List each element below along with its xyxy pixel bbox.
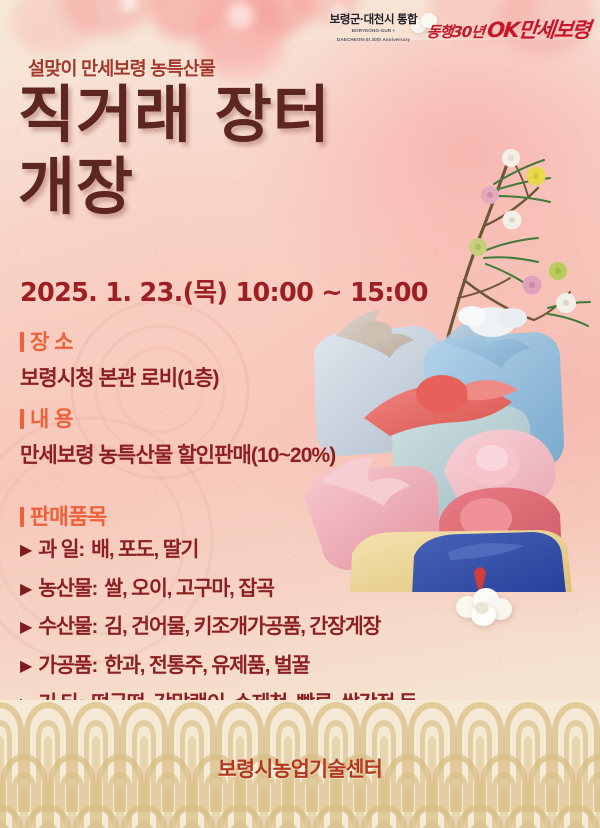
section-location-heading: 장 소: [20, 326, 219, 356]
item-values: 김, 건어물, 키조개가공품, 간장게장: [104, 609, 380, 639]
title-line-1: 직거래 장터: [18, 78, 331, 151]
section-items-heading-text: 판매품목: [30, 500, 107, 531]
poster-root: 보령군·대천시 통합 BORYEONG-GUN + DAECHEON-SI 30…: [0, 0, 600, 828]
city-merger-logo: 보령군·대천시 통합 BORYEONG-GUN + DAECHEON-SI 30…: [330, 14, 418, 44]
heading-bar-icon: [20, 332, 24, 352]
title-line-2: 개장: [18, 157, 331, 217]
section-location-body: 보령시청 본관 로비(1층): [20, 362, 219, 392]
list-item: ▶ 과 일: 배, 포도, 딸기: [20, 532, 417, 562]
list-item: ▶ 가공품: 한과, 전통주, 유제품, 벌꿀: [20, 648, 417, 678]
page-title: 직거래 장터 개장: [18, 85, 331, 216]
heading-bar-icon: [20, 507, 24, 527]
heading-bar-icon: [20, 409, 24, 429]
list-item: ▶ 농산물: 쌀, 오이, 고구마, 잡곡: [20, 571, 417, 601]
triangle-marker-icon: ▶: [20, 579, 31, 599]
sale-items-list: ▶ 과 일: 배, 포도, 딸기 ▶ 농산물: 쌀, 오이, 고구마, 잡곡 ▶…: [20, 532, 417, 725]
header-logos: 보령군·대천시 통합 BORYEONG-GUN + DAECHEON-SI 30…: [330, 14, 590, 44]
section-content: 내 용 만세보령 농특산물 할인판매(10~20%): [20, 403, 335, 469]
section-content-heading: 내 용: [20, 403, 335, 433]
brand-logo-anniversary: 동행30년: [426, 21, 485, 42]
section-location-heading-text: 장 소: [30, 326, 73, 356]
item-values: 쌀, 오이, 고구마, 잡곡: [104, 571, 274, 601]
item-category: 가공품:: [38, 648, 97, 678]
section-location: 장 소 보령시청 본관 로비(1층): [20, 326, 219, 392]
item-values: 배, 포도, 딸기: [91, 532, 198, 562]
triangle-marker-icon: ▶: [20, 656, 31, 676]
triangle-marker-icon: ▶: [20, 617, 31, 637]
section-content-heading-text: 내 용: [30, 403, 73, 433]
list-item: ▶ 수산물: 김, 건어물, 키조개가공품, 간장게장: [20, 609, 417, 639]
section-content-body: 만세보령 농특산물 할인판매(10~20%): [20, 439, 335, 469]
footer-band: 보령시농업기술센터: [0, 700, 600, 828]
triangle-marker-icon: ▶: [20, 540, 31, 560]
item-category: 과 일:: [38, 532, 84, 562]
brand-logo: 동행30년 OK만세보령: [426, 14, 592, 44]
item-category: 농산물:: [38, 571, 97, 601]
city-logo-korean: 보령군·대천시 통합: [330, 14, 418, 26]
event-datetime: 2025. 1. 23.(목) 10:00 ~ 15:00: [20, 272, 428, 309]
item-category: 수산물:: [38, 609, 97, 639]
section-items-heading: 판매품목: [20, 500, 107, 531]
item-values: 한과, 전통주, 유제품, 벌꿀: [104, 648, 309, 678]
organization-name: 보령시농업기술센터: [0, 752, 600, 782]
city-logo-english-line2: DAECHEON-SI 30th Anniversary: [330, 37, 418, 44]
city-logo-english-line1: BORYEONG-GUN +: [330, 28, 418, 35]
brand-logo-slogan: OK만세보령: [486, 14, 592, 44]
